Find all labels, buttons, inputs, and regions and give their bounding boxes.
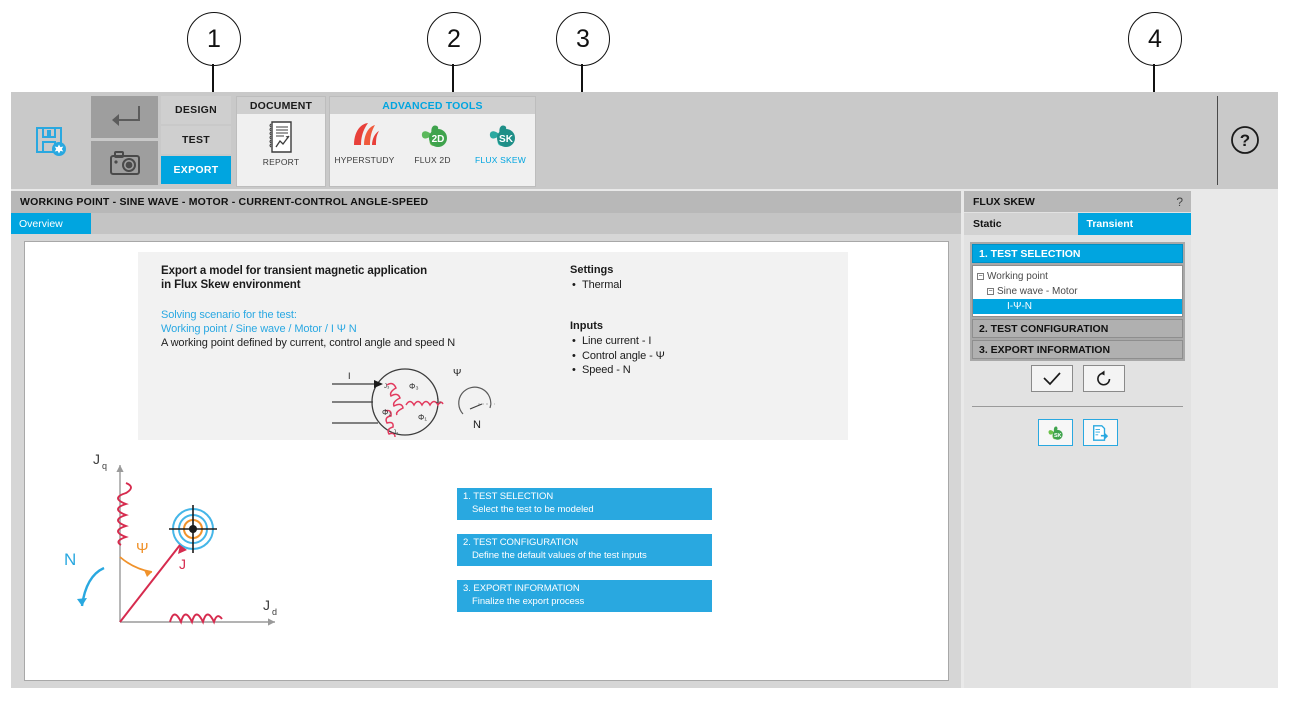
- ribbon-tab-export[interactable]: EXPORT: [161, 156, 231, 184]
- hyperstudy-icon: [348, 120, 382, 152]
- step-banner-test-configuration: 2. TEST CONFIGURATION Define the default…: [457, 534, 712, 566]
- svg-text:I: I: [348, 371, 351, 381]
- inputs-item: Line current - I: [582, 334, 665, 349]
- section-test-configuration[interactable]: 2. TEST CONFIGURATION: [972, 319, 1183, 338]
- page-title: WORKING POINT - SINE WAVE - MOTOR - CURR…: [20, 196, 428, 208]
- settings-block: Settings Thermal: [570, 264, 622, 293]
- hyperstudy-button[interactable]: HYPERSTUDY: [331, 114, 399, 165]
- ribbon-group-document-title: DOCUMENT: [237, 97, 325, 114]
- svg-text:q: q: [102, 461, 107, 471]
- svg-text:Ψ: Ψ: [136, 540, 149, 557]
- flux-2d-button-label: FLUX 2D: [414, 155, 450, 165]
- inputs-item: Speed - N: [582, 363, 665, 378]
- ribbon-toolbar: DESIGN TEST EXPORT DOCUMENT REPORT: [11, 92, 1278, 189]
- mode-tab-transient[interactable]: Transient: [1078, 213, 1192, 235]
- svg-text:Ψ: Ψ: [453, 368, 461, 379]
- flux-skew-button[interactable]: SK FLUX SKEW: [467, 114, 535, 165]
- info-heading: Export a model for transient magnetic ap…: [161, 264, 427, 292]
- svg-text:J₃: J₃: [384, 384, 390, 390]
- tree-node-sine-wave-motor[interactable]: −Sine wave - Motor: [973, 284, 1182, 299]
- tree-node-working-point[interactable]: −Working point: [973, 269, 1182, 284]
- flux-2d-icon: 2D: [416, 120, 450, 152]
- section-test-selection[interactable]: 1. TEST SELECTION: [972, 244, 1183, 263]
- ribbon-group-advanced-title: ADVANCED TOOLS: [330, 97, 535, 114]
- flux-2d-button[interactable]: 2D FLUX 2D: [399, 114, 467, 165]
- tree-node-working-point-label: Working point: [987, 271, 1048, 282]
- step-3-title: 3. EXPORT INFORMATION: [463, 583, 706, 596]
- motor-schematic-diagram: I J₃ J₂ J₁ Φ₃: [330, 362, 538, 442]
- info-panel: Export a model for transient magnetic ap…: [138, 252, 848, 440]
- help-question-circle-icon: ?: [1230, 125, 1260, 155]
- flux-skew-button-label: FLUX SKEW: [475, 155, 526, 165]
- inputs-list: Line current - I Control angle - Ψ Speed…: [570, 334, 665, 378]
- step-2-desc: Define the default values of the test in…: [463, 550, 706, 563]
- tree-node-sine-wave-motor-label: Sine wave - Motor: [997, 286, 1078, 297]
- mode-tab-list: Static Transient: [964, 213, 1191, 235]
- undo-button[interactable]: [91, 96, 158, 138]
- undo-arrow-icon: [109, 104, 141, 130]
- svg-text:Φ₁: Φ₁: [418, 413, 427, 422]
- svg-text:J: J: [263, 597, 270, 613]
- svg-text:N: N: [64, 550, 76, 569]
- svg-text:J: J: [179, 556, 186, 572]
- inputs-block: Inputs Line current - I Control angle - …: [570, 320, 665, 378]
- save-disk-icon: [34, 124, 68, 158]
- svg-text:SK: SK: [499, 134, 514, 145]
- svg-text:?: ?: [1240, 131, 1250, 150]
- svg-text:Φ₂: Φ₂: [382, 408, 392, 417]
- ribbon-tab-test[interactable]: TEST: [161, 126, 231, 154]
- export-flux-skew-button[interactable]: SK: [1038, 419, 1073, 446]
- flux-skew-panel: FLUX SKEW ? Static Transient 1. TEST SEL…: [964, 191, 1191, 688]
- overview-canvas: Export a model for transient magnetic ap…: [24, 241, 949, 681]
- report-document-icon: [267, 120, 295, 154]
- section-accordion: 1. TEST SELECTION −Working point −Sine w…: [970, 242, 1185, 361]
- flux-skew-panel-title: FLUX SKEW: [973, 196, 1035, 208]
- export-file-button[interactable]: [1083, 419, 1118, 446]
- flux-skew-icon: SK: [484, 120, 518, 152]
- screenshot-button[interactable]: [91, 141, 158, 185]
- step-1-desc: Select the test to be modeled: [463, 504, 706, 517]
- inputs-item: Control angle - Ψ: [582, 349, 665, 364]
- callout-3-number: 3: [556, 12, 610, 66]
- panel-separator: [972, 406, 1183, 407]
- hyperstudy-button-label: HYPERSTUDY: [334, 155, 394, 165]
- panel-help-icon[interactable]: ?: [1176, 195, 1183, 209]
- svg-text:Φ₃: Φ₃: [409, 382, 419, 391]
- mode-tab-static[interactable]: Static: [964, 213, 1078, 235]
- step-1-title: 1. TEST SELECTION: [463, 491, 706, 504]
- info-heading-line2: in Flux Skew environment: [161, 278, 427, 292]
- svg-text:2D: 2D: [431, 134, 444, 145]
- export-document-icon: [1091, 424, 1109, 442]
- application-window: DESIGN TEST EXPORT DOCUMENT REPORT: [11, 92, 1278, 688]
- panel-export-row: SK: [964, 419, 1191, 446]
- settings-title: Settings: [570, 264, 622, 276]
- step-banner-list: 1. TEST SELECTION Select the test to be …: [457, 488, 712, 626]
- ribbon-tab-design[interactable]: DESIGN: [161, 96, 231, 124]
- settings-item: Thermal: [582, 278, 622, 293]
- step-banner-test-selection: 1. TEST SELECTION Select the test to be …: [457, 488, 712, 520]
- save-button[interactable]: [15, 96, 87, 185]
- test-selection-tree: −Working point −Sine wave - Motor I-Ψ-N: [972, 265, 1183, 317]
- callout-1-number: 1: [187, 12, 241, 66]
- ribbon-tab-list: DESIGN TEST EXPORT: [161, 96, 231, 185]
- ribbon-group-advanced-tools: ADVANCED TOOLS HYPERSTUDY: [329, 96, 536, 187]
- svg-text:SK: SK: [1054, 433, 1062, 439]
- report-button-label: REPORT: [263, 157, 299, 167]
- info-description: A working point defined by current, cont…: [161, 336, 455, 350]
- step-2-title: 2. TEST CONFIGURATION: [463, 537, 706, 550]
- flux-skew-panel-header: FLUX SKEW ?: [964, 191, 1191, 212]
- camera-icon: [109, 150, 141, 176]
- section-export-information[interactable]: 3. EXPORT INFORMATION: [972, 340, 1183, 359]
- main-title-bar: WORKING POINT - SINE WAVE - MOTOR - CURR…: [11, 191, 961, 213]
- svg-text:J₁: J₁: [436, 399, 441, 405]
- step-banner-export-information: 3. EXPORT INFORMATION Finalize the expor…: [457, 580, 712, 612]
- svg-text:J: J: [93, 451, 100, 467]
- main-content-area: WORKING POINT - SINE WAVE - MOTOR - CURR…: [11, 191, 961, 688]
- help-button[interactable]: ?: [1230, 125, 1260, 155]
- reset-button[interactable]: [1083, 365, 1125, 392]
- info-heading-line1: Export a model for transient magnetic ap…: [161, 264, 427, 278]
- inputs-title: Inputs: [570, 320, 665, 332]
- svg-text:J₂: J₂: [393, 430, 399, 436]
- ribbon-group-document: DOCUMENT REPORT: [236, 96, 326, 187]
- tree-expander-icon[interactable]: −: [987, 288, 994, 295]
- tree-expander-icon[interactable]: −: [977, 273, 984, 280]
- flux-skew-small-icon: SK: [1045, 424, 1065, 442]
- tree-node-i-psi-n[interactable]: I-Ψ-N: [973, 299, 1182, 314]
- refresh-icon: [1095, 370, 1113, 388]
- main-tab-strip: Overview: [11, 213, 961, 234]
- ribbon-divider: [1217, 96, 1218, 185]
- info-scenario-label: Solving scenario for the test:: [161, 308, 357, 322]
- svg-text:N: N: [473, 419, 481, 431]
- settings-list: Thermal: [570, 278, 622, 293]
- panel-action-row: [964, 365, 1191, 392]
- dq-vector-diagram: J q J d J: [60, 447, 290, 642]
- report-button[interactable]: REPORT: [247, 114, 315, 167]
- svg-text:d: d: [272, 607, 277, 617]
- callout-2-number: 2: [427, 12, 481, 66]
- validate-button[interactable]: [1031, 365, 1073, 392]
- step-3-desc: Finalize the export process: [463, 596, 706, 609]
- callout-4-number: 4: [1128, 12, 1182, 66]
- tab-overview[interactable]: Overview: [11, 213, 91, 234]
- info-scenario-value: Working point / Sine wave / Motor / I Ψ …: [161, 322, 357, 336]
- info-scenario: Solving scenario for the test: Working p…: [161, 308, 357, 336]
- check-icon: [1042, 371, 1062, 387]
